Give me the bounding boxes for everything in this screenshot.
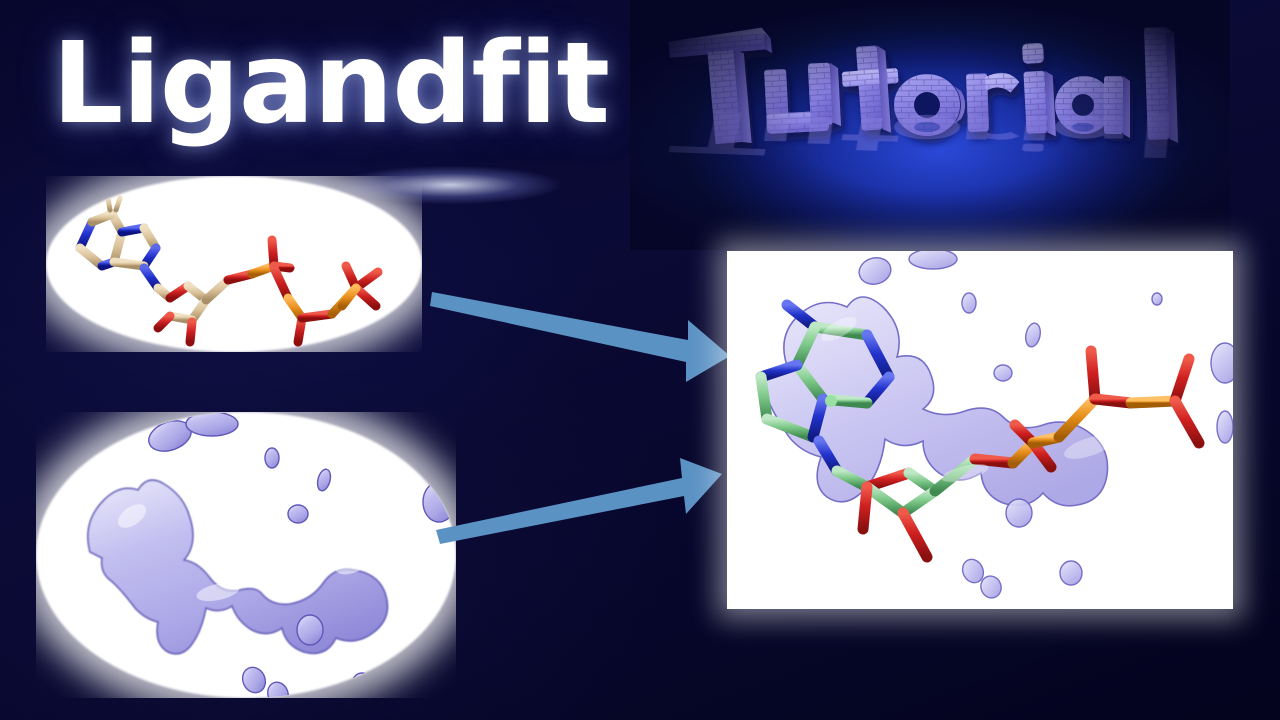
- result-panel: [727, 251, 1233, 609]
- arrow-density-to-result: [430, 438, 730, 550]
- banner-vignette: [630, 0, 1230, 250]
- tutorial-banner: [630, 0, 1230, 250]
- ligand-stick-model: [46, 176, 422, 352]
- fitted-ligand-in-density: [727, 251, 1233, 609]
- ligand-thumbnail: [46, 176, 422, 352]
- page-title: Ligandfit: [52, 18, 609, 150]
- density-isosurface: [36, 412, 456, 698]
- ligand-thumbnail-clip: [46, 176, 422, 352]
- density-thumbnail: [36, 412, 456, 698]
- arrow-ligand-to-result: [420, 278, 740, 398]
- slide-canvas: Ligandfit: [0, 0, 1280, 720]
- density-thumbnail-clip: [36, 412, 456, 698]
